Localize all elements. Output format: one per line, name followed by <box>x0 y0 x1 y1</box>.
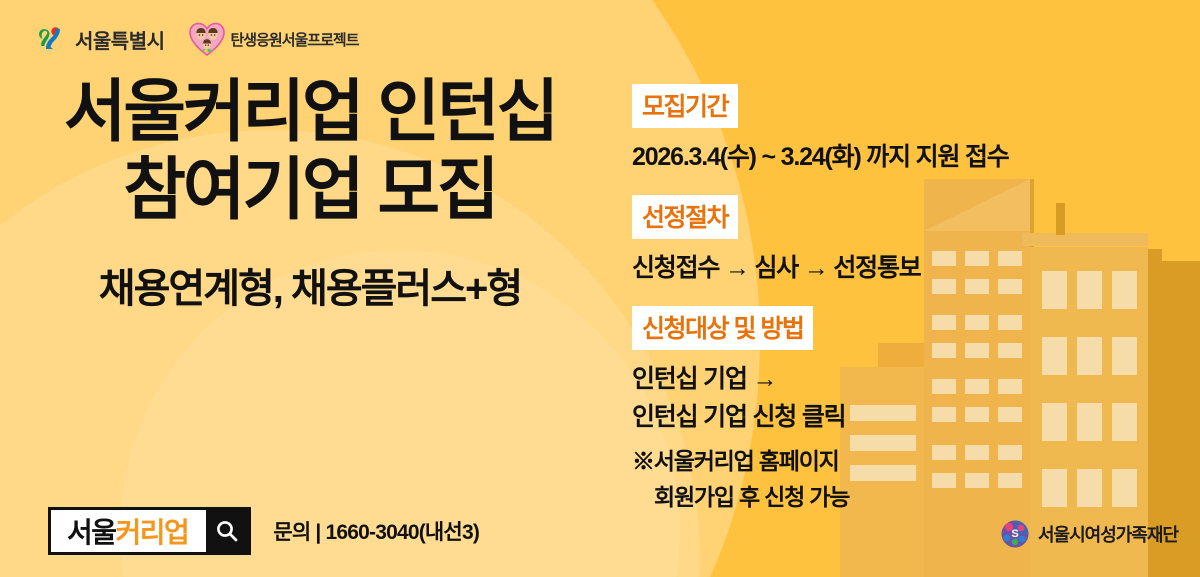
info-chip-recruitment-period: 모집기간 <box>632 84 738 128</box>
birth-project-logo: 탄생응원서울프로젝트 <box>189 22 359 56</box>
info-block-recruitment-period: 모집기간 2026.3.4(수) ~ 3.24(화) 까지 지원 접수 <box>632 84 1072 173</box>
building-window <box>1077 337 1102 375</box>
info-chip-selection-process: 선정절차 <box>632 195 738 239</box>
search-keyword-text: 서울커리업 <box>67 511 206 551</box>
birth-project-logo-label: 탄생응원서울프로젝트 <box>231 29 359 50</box>
info-text-apply-step-2: 인턴십 기업 신청 클릭 <box>632 397 1072 433</box>
building-window <box>1112 403 1137 441</box>
foundation-emblem-icon: S <box>1000 519 1030 549</box>
search-keyword-box[interactable]: 서울커리업 <box>48 507 251 555</box>
headline-line-2: 참여기업 모집 <box>0 152 620 228</box>
background-corner-wedge <box>1050 0 1200 150</box>
footer-row: 서울커리업 문의 | 1660-3040(내선3) <box>48 507 479 555</box>
info-chip-how-to-apply: 신청대상 및 방법 <box>632 306 813 350</box>
building-window <box>1077 469 1102 507</box>
headline-group: 서울커리업 인턴십 참여기업 모집 채용연계형, 채용플러스+형 <box>0 74 620 314</box>
search-icon[interactable] <box>206 510 248 552</box>
headline-subtitle: 채용연계형, 채용플러스+형 <box>0 256 620 314</box>
search-keyword-highlight: 커리업 <box>116 517 189 548</box>
info-block-selection-process: 선정절차 신청접수 → 심사 → 선정통보 <box>632 195 1072 284</box>
heart-family-icon <box>189 22 225 56</box>
building-window <box>1112 469 1137 507</box>
building-window <box>1077 271 1102 309</box>
contact-info: 문의 | 1660-3040(내선3) <box>273 516 479 546</box>
search-keyword-prefix: 서울 <box>67 517 116 548</box>
seoul-city-logo-label: 서울특별시 <box>75 25 165 54</box>
svg-text:S: S <box>1011 528 1018 540</box>
building-window <box>1112 271 1137 309</box>
building-window <box>1112 337 1137 375</box>
info-text-recruitment-dates: 2026.3.4(수) ~ 3.24(화) 까지 지원 접수 <box>632 137 1072 173</box>
seoul-emblem-icon <box>34 22 68 56</box>
info-text-apply-step-1: 인턴십 기업 → <box>632 359 1072 395</box>
info-block-how-to-apply: 신청대상 및 방법 인턴십 기업 → 인턴십 기업 신청 클릭 ※서울커리업 홈… <box>632 306 1072 512</box>
info-text-apply-note-2: 회원가입 후 신청 가능 <box>632 478 1072 512</box>
header-logo-group: 서울특별시 <box>34 22 359 56</box>
promotional-banner: 서울특별시 <box>0 0 1200 577</box>
foundation-name-label: 서울시여성가족재단 <box>1038 521 1178 547</box>
info-panel: 모집기간 2026.3.4(수) ~ 3.24(화) 까지 지원 접수 선정절차… <box>632 84 1072 512</box>
info-text-selection-steps: 신청접수 → 심사 → 선정통보 <box>632 248 1072 284</box>
seoul-city-logo: 서울특별시 <box>34 22 165 56</box>
info-text-apply-note-1: ※서울커리업 홈페이지 <box>632 442 1072 476</box>
headline-line-1: 서울커리업 인턴십 <box>0 74 620 150</box>
building-window <box>1077 403 1102 441</box>
foundation-logo: S 서울시여성가족재단 <box>1000 519 1178 549</box>
